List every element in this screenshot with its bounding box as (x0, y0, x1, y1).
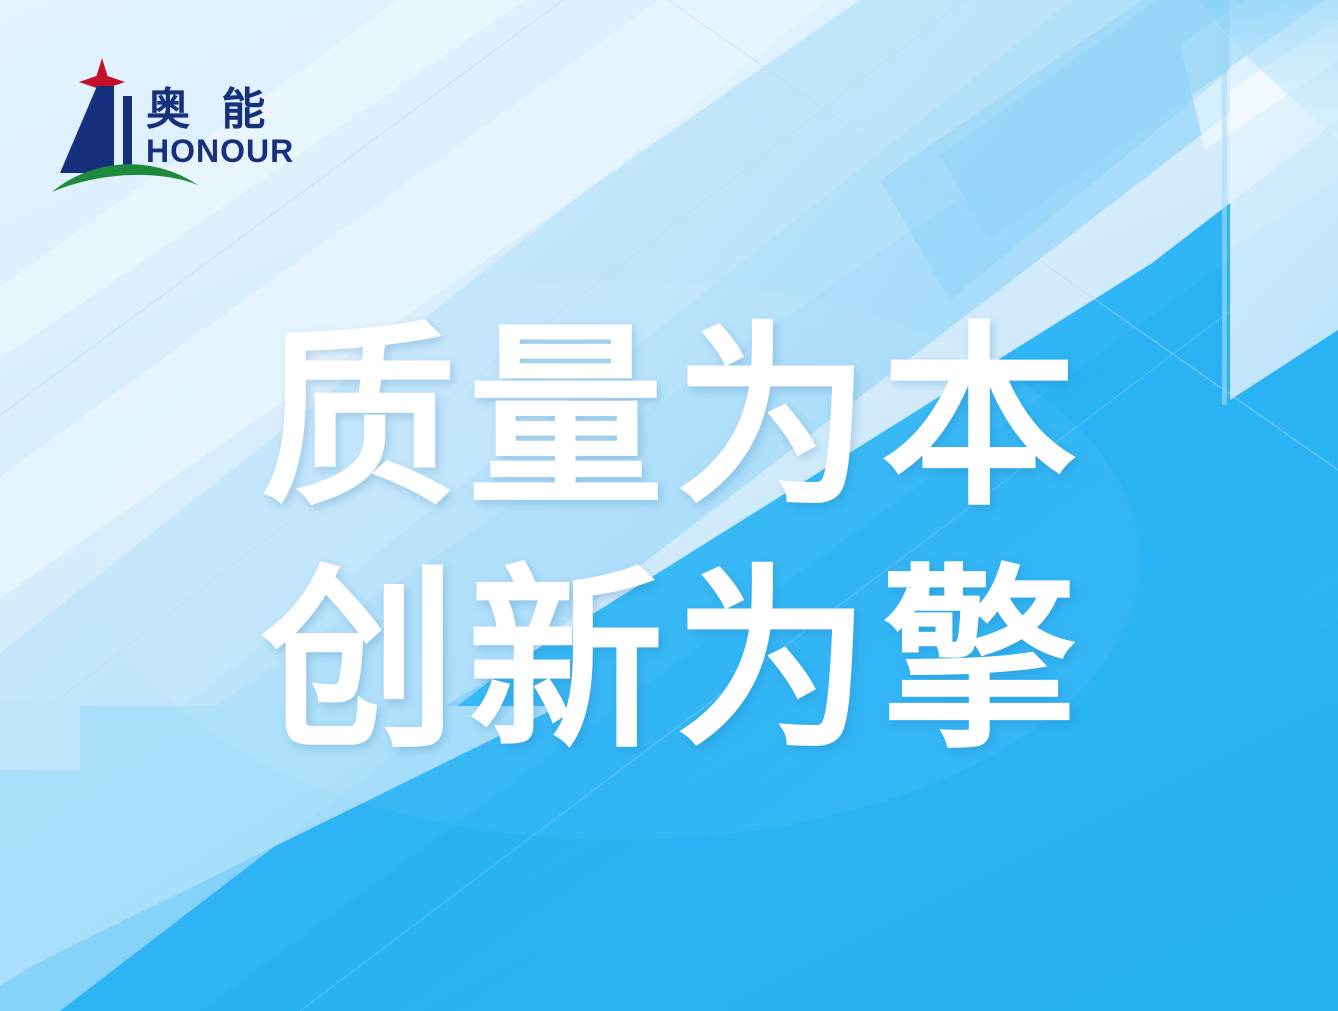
panel-shadow (880, 0, 1230, 300)
honour-a-mark (60, 86, 114, 173)
poster-canvas: 奥 能 HONOUR 质量为本 创新为擎 (0, 0, 1338, 1011)
slogan-line-2: 创新为擎 (0, 543, 1338, 782)
panel-top-flash (1180, 0, 1338, 150)
panel-diag-strip (940, 0, 1338, 240)
logo-english-name: HONOUR (146, 133, 294, 169)
company-logo: 奥 能 HONOUR (50, 52, 318, 200)
panel-right-top-edge (1230, 0, 1338, 90)
sky-bleed (1180, 0, 1338, 140)
logo-chinese-name: 奥 能 (146, 84, 273, 135)
panel-right-mid-edge (1230, 180, 1338, 305)
slogan-line-1: 质量为本 (0, 300, 1338, 539)
logo-artwork: 奥 能 HONOUR (50, 52, 318, 200)
logo-vertical-bar (123, 96, 132, 173)
slogan-block: 质量为本 创新为擎 (0, 300, 1338, 782)
